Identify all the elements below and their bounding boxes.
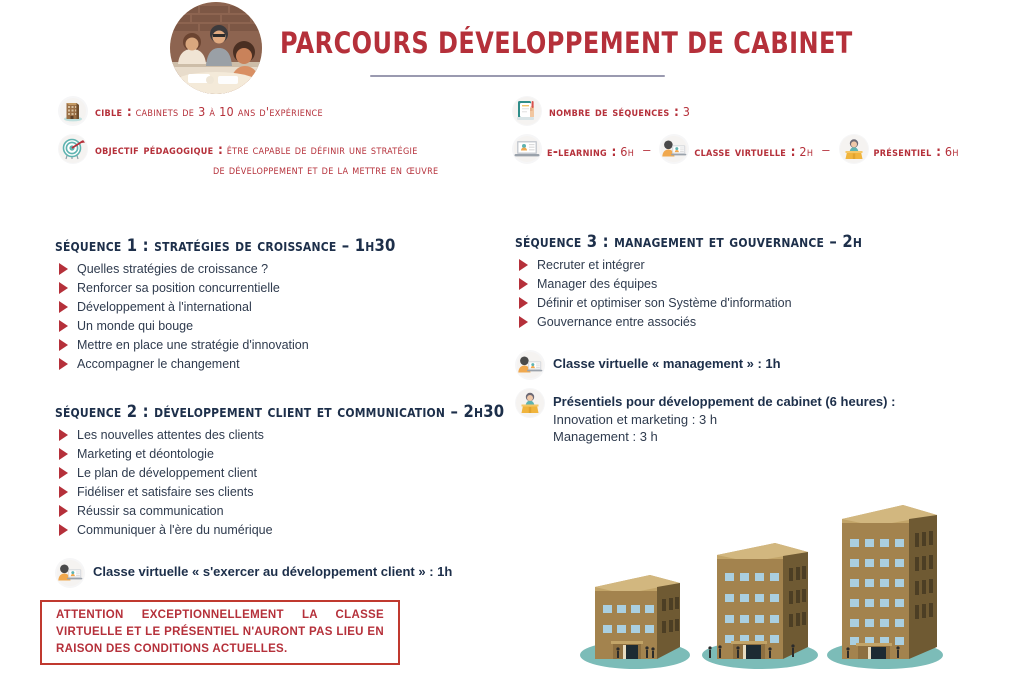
info-cible-value: Cabinets de 3 à 10 ans d'expérience [136, 104, 323, 119]
sequence3-virtual-class-label: Classe virtuelle « management » : 1h [553, 355, 781, 373]
sequence3-presential-row: Présentiels pour développement de cabine… [515, 390, 975, 446]
sequence2-virtual-class-text: Classe virtuelle « s'exercer au développ… [93, 560, 452, 581]
sequence2-bullet-list: Les nouvelles attentes des clients Marke… [55, 428, 495, 538]
info-block-left: Cible : Cabinets de 3 à 10 ans d'expérie… [58, 96, 508, 187]
list-item: Gouvernance entre associés [515, 315, 975, 330]
laptop-elearning-icon [512, 134, 542, 164]
presenter-lectern-icon [515, 388, 545, 418]
modality-elearning-text: E-learning : 6h [547, 136, 634, 163]
info-row-objectif: Objectif pédagogique : être capable de d… [58, 134, 508, 179]
sequence2-title: Séquence 2 : Développement client et com… [55, 402, 495, 421]
sequence2-virtual-class-row: Classe virtuelle « s'exercer au développ… [55, 560, 495, 588]
poster-page: PARCOURS DÉVELOPPEMENT DE CABINET [0, 0, 1024, 696]
tall-building [842, 505, 937, 659]
modality-presentiel-value: 6h [945, 144, 959, 159]
building-icon [58, 96, 88, 126]
list-item: Définir et optimiser son Système d'infor… [515, 296, 975, 311]
modality-elearning-label: E-learning : [547, 144, 617, 160]
info-row-sequences: Nombre de séquences : 3 [512, 96, 982, 126]
sequence3-virtual-class-row: Classe virtuelle « management » : 1h [515, 352, 975, 380]
info-sequences-value: 3 [683, 104, 690, 119]
modality-separator-2: – [813, 142, 838, 157]
info-objectif-text: Objectif pédagogique : être capable de d… [95, 134, 438, 179]
info-sequences-label: Nombre de séquences : [549, 104, 679, 120]
meeting-photo [170, 2, 262, 94]
hand-tablet-icon [512, 96, 542, 126]
info-objectif-value-line2: de développement et de la mettre en œuvr… [95, 161, 438, 179]
modality-separator-1: – [634, 142, 659, 157]
list-item: Communiquer à l'ère du numérique [55, 523, 495, 538]
info-row-cible: Cible : Cabinets de 3 à 10 ans d'expérie… [58, 96, 508, 126]
warning-text: ATTENTION EXCEPTIONNELLEMENT LA CLASSE V… [42, 607, 398, 657]
info-block-right: Nombre de séquences : 3 E-l [512, 96, 982, 172]
modality-elearning-value: 6h [620, 144, 634, 159]
column-left: Séquence 1 : Stratégies de croissance – … [55, 236, 495, 598]
sequence2-virtual-class-label: Classe virtuelle « s'exercer au développ… [93, 563, 452, 581]
sequence3-extra-block: Classe virtuelle « management » : 1h [515, 352, 975, 446]
list-item: Développement à l'international [55, 300, 495, 315]
three-growing-buildings [565, 495, 1015, 695]
list-item: Un monde qui bouge [55, 319, 495, 334]
sequence3-presential-line1: Innovation et marketing : 3 h [553, 411, 895, 429]
list-item: Renforcer sa position concurrentielle [55, 281, 495, 296]
list-item: Fidéliser et satisfaire ses clients [55, 485, 495, 500]
sequence3-bullet-list: Recruter et intégrer Manager des équipes… [515, 258, 975, 330]
info-sequences-text: Nombre de séquences : 3 [549, 96, 690, 123]
sequence3-virtual-class-text: Classe virtuelle « management » : 1h [553, 352, 781, 373]
sequence3-presential-heading: Présentiels pour développement de cabine… [553, 393, 895, 411]
list-item: Manager des équipes [515, 277, 975, 292]
sequence3-presential-text: Présentiels pour développement de cabine… [553, 390, 895, 446]
list-item: Recruter et intégrer [515, 258, 975, 273]
modality-virtual-label: Classe virtuelle : [694, 144, 795, 160]
list-item: Marketing et déontologie [55, 447, 495, 462]
info-cible-text: Cible : Cabinets de 3 à 10 ans d'expérie… [95, 96, 323, 123]
medium-building [708, 543, 808, 659]
info-row-modalities: E-learning : 6h – [512, 134, 982, 164]
sequence1-title: Séquence 1 : Stratégies de croissance – … [55, 236, 495, 255]
list-item: Le plan de développement client [55, 466, 495, 481]
list-item: Réussir sa communication [55, 504, 495, 519]
list-item: Quelles stratégies de croissance ? [55, 262, 495, 277]
modality-virtual-text: Classe virtuelle : 2h [694, 136, 813, 163]
info-objectif-label: Objectif pédagogique : [95, 142, 223, 158]
info-cible-label: Cible : [95, 104, 132, 120]
virtual-class-icon [515, 350, 545, 380]
virtual-class-icon [659, 134, 689, 164]
list-item: Les nouvelles attentes des clients [55, 428, 495, 443]
target-dartboard-icon [58, 134, 88, 164]
warning-box: ATTENTION EXCEPTIONNELLEMENT LA CLASSE V… [40, 600, 400, 665]
info-objectif-value: être capable de définir une stratégie [227, 142, 418, 157]
page-title: PARCOURS DÉVELOPPEMENT DE CABINET [280, 26, 853, 60]
presenter-lectern-icon [839, 134, 869, 164]
virtual-class-icon [55, 558, 85, 588]
sequence3-title: Séquence 3 : Management et Gouvernance –… [515, 232, 975, 251]
title-divider [370, 75, 665, 77]
list-item: Mettre en place une stratégie d'innovati… [55, 338, 495, 353]
header: PARCOURS DÉVELOPPEMENT DE CABINET [0, 0, 1024, 96]
sequence1-bullet-list: Quelles stratégies de croissance ? Renfo… [55, 262, 495, 372]
small-building [595, 575, 680, 659]
list-item: Accompagner le changement [55, 357, 495, 372]
modality-virtual-value: 2h [799, 144, 813, 159]
sequence2-virtual-class-block: Classe virtuelle « s'exercer au développ… [55, 560, 495, 588]
modality-presentiel-label: Présentiel : [874, 144, 942, 160]
sequence3-presential-line2: Management : 3 h [553, 428, 895, 446]
modality-presentiel-text: Présentiel : 6h [874, 136, 959, 163]
column-right: Séquence 3 : Management et Gouvernance –… [515, 232, 975, 456]
